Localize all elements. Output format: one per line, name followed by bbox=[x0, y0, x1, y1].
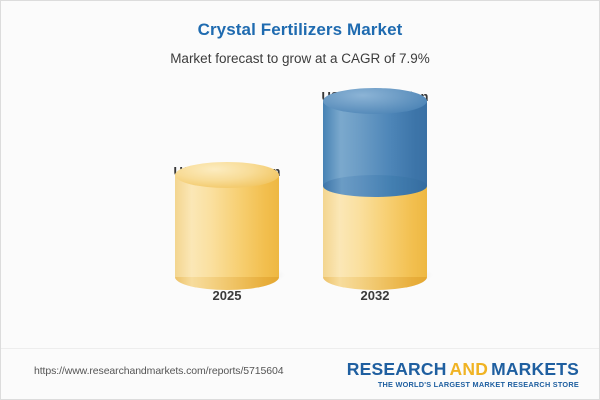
cylinder-body-2025 bbox=[175, 175, 279, 277]
cylinder-bar-2032 bbox=[323, 88, 427, 277]
cylinder-segment-divider-2032 bbox=[323, 175, 427, 197]
logo-wordmark: RESEARCHANDMARKETS bbox=[347, 359, 579, 379]
logo-word-and: AND bbox=[447, 359, 492, 379]
logo-word-research: RESEARCH bbox=[347, 359, 447, 379]
market-forecast-infographic: Crystal Fertilizers Market Market foreca… bbox=[0, 0, 600, 400]
source-url-link[interactable]: https://www.researchandmarkets.com/repor… bbox=[34, 365, 283, 377]
cylinder-top-cap-2025 bbox=[175, 162, 279, 188]
logo-tagline: THE WORLD'S LARGEST MARKET RESEARCH STOR… bbox=[347, 379, 579, 390]
chart-plot-area: USD 18.48 Billion 2025 USD 31.38 Billion bbox=[1, 1, 599, 349]
logo-word-markets: MARKETS bbox=[491, 359, 579, 379]
research-and-markets-logo[interactable]: RESEARCHANDMARKETS THE WORLD'S LARGEST M… bbox=[347, 359, 579, 390]
cylinder-top-cap-2032 bbox=[323, 88, 427, 114]
cylinder-bar-2025 bbox=[175, 162, 279, 277]
category-label-2025: 2025 bbox=[157, 288, 297, 303]
category-label-2032: 2032 bbox=[305, 288, 445, 303]
footer: https://www.researchandmarkets.com/repor… bbox=[1, 348, 599, 399]
